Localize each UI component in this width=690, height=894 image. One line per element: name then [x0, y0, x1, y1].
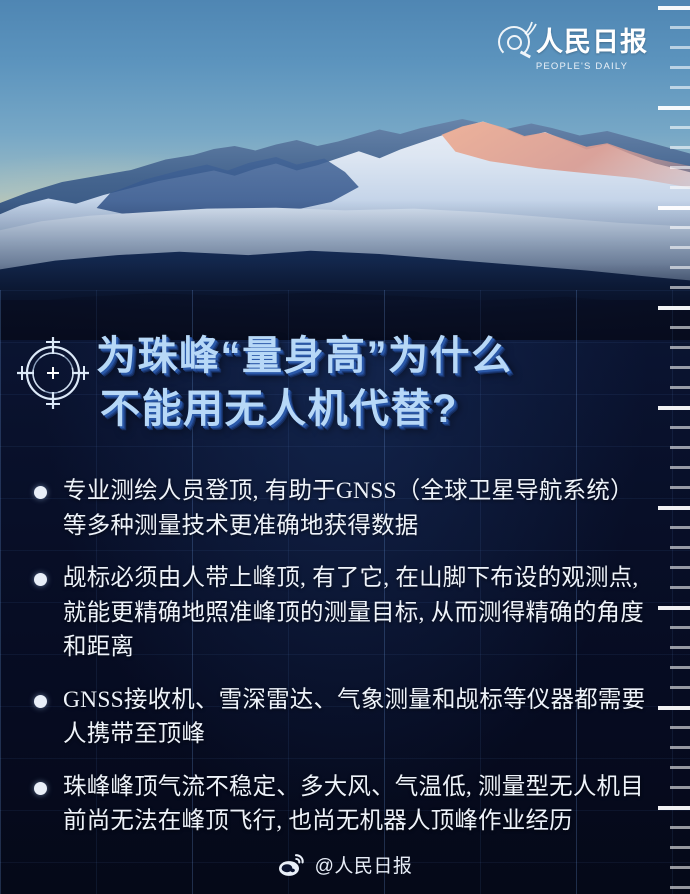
- footer-handle: @人民日报: [315, 851, 413, 878]
- ruler-minor-tick: [670, 746, 690, 749]
- signal-wave-icon: [522, 20, 540, 38]
- ruler-minor-tick: [670, 346, 690, 349]
- ruler-minor-tick: [670, 626, 690, 629]
- ruler-minor-tick: [670, 526, 690, 529]
- ruler-minor-tick: [670, 166, 690, 169]
- logo-row: 人民日报: [498, 26, 648, 58]
- ruler-minor-tick: [670, 226, 690, 229]
- bullet-dot-icon: [34, 782, 47, 795]
- logo-name: 人民日报: [536, 29, 648, 56]
- ruler-major-tick: [658, 706, 690, 710]
- ruler-minor-tick: [670, 766, 690, 769]
- logo-subtitle: PEOPLE'S DAILY: [536, 61, 628, 72]
- weibo-icon: [278, 853, 306, 877]
- bullet-text: GNSS接收机、雪深雷达、气象测量和觇标等仪器都需要人携带至顶峰: [63, 683, 646, 752]
- title-lines: 为珠峰“量身高”为什么 不能用无人机代替?: [96, 330, 690, 436]
- ruler-minor-tick: [670, 846, 690, 849]
- ruler-minor-tick: [670, 386, 690, 389]
- bullet-text: 专业测绘人员登顶, 有助于GNSS（全球卫星导航系统）等多种测量技术更准确地获得…: [63, 474, 646, 543]
- ruler-minor-tick: [670, 186, 690, 189]
- ruler-minor-tick: [670, 886, 690, 889]
- ruler-major-tick: [658, 6, 690, 10]
- ruler-minor-tick: [670, 866, 690, 869]
- measuring-ruler: [656, 0, 690, 894]
- ruler-minor-tick: [670, 486, 690, 489]
- bullet-item: 觇标必须由人带上峰顶, 有了它, 在山脚下布设的观测点, 就能更精确地照准峰顶的…: [0, 561, 646, 665]
- bullet-dot-icon: [34, 573, 47, 586]
- ruler-major-tick: [658, 606, 690, 610]
- ruler-major-tick: [658, 206, 690, 210]
- bullet-item: 珠峰峰顶气流不稳定、多大风、气温低, 测量型无人机目前尚无法在峰顶飞行, 也尚无…: [0, 770, 646, 839]
- bullet-dot-icon: [34, 695, 47, 708]
- bullet-item: GNSS接收机、雪深雷达、气象测量和觇标等仪器都需要人携带至顶峰: [0, 683, 646, 752]
- ruler-minor-tick: [670, 646, 690, 649]
- ruler-major-tick: [658, 806, 690, 810]
- ruler-minor-tick: [670, 826, 690, 829]
- ruler-major-tick: [658, 306, 690, 310]
- ruler-minor-tick: [670, 666, 690, 669]
- ruler-major-tick: [658, 106, 690, 110]
- ruler-minor-tick: [670, 326, 690, 329]
- ruler-minor-tick: [670, 786, 690, 789]
- ruler-minor-tick: [670, 586, 690, 589]
- bullet-text: 珠峰峰顶气流不稳定、多大风、气温低, 测量型无人机目前尚无法在峰顶飞行, 也尚无…: [63, 770, 646, 839]
- bullet-item: 专业测绘人员登顶, 有助于GNSS（全球卫星导航系统）等多种测量技术更准确地获得…: [0, 474, 646, 543]
- ruler-minor-tick: [670, 546, 690, 549]
- crosshair-target-icon: [16, 336, 90, 410]
- title-line-1: 为珠峰“量身高”为什么: [96, 330, 650, 383]
- ruler-minor-tick: [670, 26, 690, 29]
- ruler-minor-tick: [670, 566, 690, 569]
- photo-fade-overlay: [0, 200, 690, 340]
- ruler-major-tick: [658, 406, 690, 410]
- footer: @人民日报: [0, 851, 690, 878]
- ruler-minor-tick: [670, 686, 690, 689]
- ruler-minor-tick: [670, 46, 690, 49]
- ruler-minor-tick: [670, 246, 690, 249]
- peoples-daily-logo: 人民日报 PEOPLE'S DAILY: [498, 26, 648, 72]
- at-sign-icon: [498, 26, 530, 58]
- ruler-minor-tick: [670, 146, 690, 149]
- title-block: 为珠峰“量身高”为什么 不能用无人机代替?: [0, 330, 690, 436]
- ruler-minor-tick: [670, 126, 690, 129]
- ruler-minor-tick: [670, 446, 690, 449]
- ruler-minor-tick: [670, 266, 690, 269]
- ruler-minor-tick: [670, 366, 690, 369]
- ruler-minor-tick: [670, 466, 690, 469]
- bullet-dot-icon: [34, 486, 47, 499]
- ruler-minor-tick: [670, 726, 690, 729]
- bullet-list: 专业测绘人员登顶, 有助于GNSS（全球卫星导航系统）等多种测量技术更准确地获得…: [0, 474, 690, 857]
- infographic-poster: 人民日报 PEOPLE'S DAILY 为珠峰“量身高”为什么 不能用无人机代替…: [0, 0, 690, 894]
- ruler-minor-tick: [670, 286, 690, 289]
- ruler-minor-tick: [670, 426, 690, 429]
- bullet-text: 觇标必须由人带上峰顶, 有了它, 在山脚下布设的观测点, 就能更精确地照准峰顶的…: [63, 561, 646, 665]
- ruler-minor-tick: [670, 86, 690, 89]
- title-line-2: 不能用无人机代替?: [100, 383, 650, 436]
- ruler-major-tick: [658, 506, 690, 510]
- ruler-minor-tick: [670, 66, 690, 69]
